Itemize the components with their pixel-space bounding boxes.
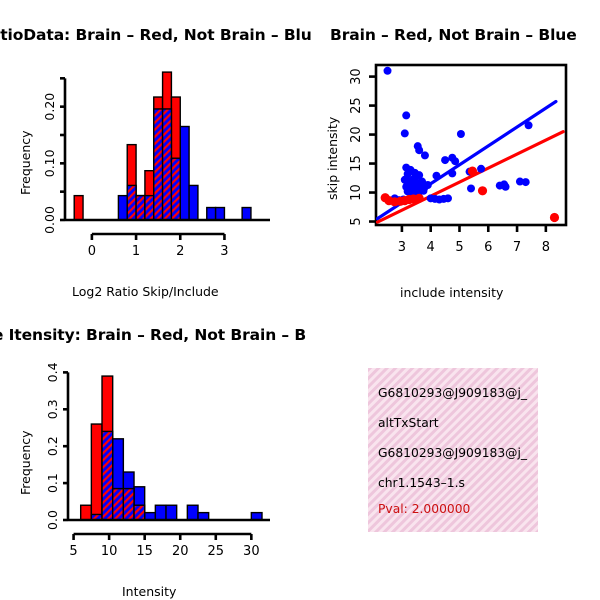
histogram-bar-brain [91, 424, 102, 520]
intensity-scatter-plot: 51015202530345678 [316, 55, 596, 280]
x-tick-label: 3 [220, 244, 228, 259]
bottom-left-panel-title: ne Itensity: Brain – Red, Not Brain – B [0, 326, 306, 344]
histogram-bar-not-brain [180, 127, 189, 221]
x-tick-label: 20 [172, 544, 189, 559]
y-tick-label: 0.10 [42, 149, 57, 177]
x-tick-label: 1 [132, 244, 140, 259]
scatter-point-not-brain [477, 165, 485, 173]
y-tick-label: 0.0 [45, 510, 60, 530]
scatter-point-not-brain [402, 111, 410, 119]
ratio-histogram-plot: 0.000.100.200123 [30, 55, 295, 280]
histogram-bar-overlap [134, 505, 145, 520]
histogram-bar-overlap [154, 109, 163, 220]
histogram-bar-overlap [127, 185, 136, 220]
histogram-bar-overlap [113, 489, 124, 520]
scatter-point-brain [415, 194, 424, 203]
top-left-panel-title: RatioData: Brain – Red, Not Brain – Blu [0, 26, 312, 44]
y-tick-label: 0.3 [45, 399, 60, 419]
y-tick-label: 15 [349, 155, 364, 172]
info-line-event-type: altTxStart [378, 416, 439, 430]
x-tick-label: 5 [69, 544, 77, 559]
x-tick-label: 30 [243, 544, 260, 559]
scatter-point-not-brain [451, 157, 459, 165]
histogram-bar-not-brain [189, 185, 198, 220]
histogram-bar-not-brain [155, 505, 166, 520]
x-tick-label: 7 [513, 240, 521, 255]
histogram-bar-overlap [102, 431, 113, 520]
histogram-bar-not-brain [216, 208, 225, 220]
scatter-point-not-brain [522, 178, 530, 186]
histogram-bar-overlap [123, 489, 134, 520]
x-tick-label: 3 [398, 240, 406, 255]
scatter-point-brain [468, 166, 477, 175]
x-tick-label: 5 [455, 240, 463, 255]
y-tick-label: 10 [349, 184, 364, 201]
annotation-info-box: G6810293@J909183@j_ altTxStart G6810293@… [368, 368, 538, 532]
figure-canvas: RatioData: Brain – Red, Not Brain – Blu … [0, 0, 600, 600]
x-tick-label: 6 [484, 240, 492, 255]
histogram-bar-overlap [163, 109, 172, 220]
scatter-point-not-brain [444, 194, 452, 202]
y-tick-label: 5 [349, 217, 364, 225]
histogram-bar-not-brain [207, 208, 216, 220]
y-tick-label: 0.20 [42, 93, 57, 121]
y-tick-label: 25 [349, 97, 364, 114]
y-tick-label: 0.2 [45, 436, 60, 456]
y-tick-label: 0.4 [45, 362, 60, 382]
x-tick-label: 10 [101, 544, 118, 559]
scatter-point-brain [550, 213, 559, 222]
top-left-x-axis-label: Log2 Ratio Skip/Include [72, 284, 219, 299]
info-line-gene-id-1: G6810293@J909183@j_ [378, 386, 527, 400]
intensity-histogram-plot: 0.00.10.20.30.451015202530 [30, 355, 295, 580]
scatter-point-not-brain [502, 183, 510, 191]
x-tick-label: 4 [427, 240, 435, 255]
scatter-point-not-brain [525, 121, 533, 129]
x-tick-label: 2 [176, 244, 184, 259]
scatter-point-not-brain [448, 169, 456, 177]
y-tick-label: 30 [349, 68, 364, 85]
x-tick-label: 8 [542, 240, 550, 255]
scatter-point-not-brain [441, 156, 449, 164]
scatter-point-not-brain [435, 195, 443, 203]
histogram-bar-brain [81, 505, 92, 520]
x-tick-label: 0 [88, 244, 96, 259]
top-right-panel-title: Brain – Red, Not Brain – Blue [330, 26, 577, 44]
info-line-gene-id-2: G6810293@J909183@j_ [378, 446, 527, 460]
y-tick-label: 0.00 [42, 206, 57, 234]
scatter-point-not-brain [457, 130, 465, 138]
histogram-bar-overlap [136, 196, 145, 220]
top-right-x-axis-label: include intensity [400, 285, 503, 300]
info-line-pval: Pval: 2.000000 [378, 502, 470, 516]
scatter-point-not-brain [467, 184, 475, 192]
info-line-locus: chr1.1543–1.s [378, 476, 465, 490]
histogram-bar-not-brain [187, 505, 198, 520]
scatter-point-not-brain [420, 187, 428, 195]
histogram-bar-not-brain [242, 208, 251, 220]
histogram-bar-not-brain [166, 505, 177, 520]
histogram-bar-overlap [171, 158, 180, 220]
scatter-point-not-brain [432, 172, 440, 180]
scatter-point-not-brain [384, 67, 392, 75]
scatter-point-not-brain [421, 151, 429, 159]
histogram-bar-brain [74, 196, 83, 220]
x-tick-label: 15 [136, 544, 153, 559]
histogram-bar-not-brain [118, 196, 127, 220]
histogram-bar-overlap [145, 196, 154, 220]
bottom-left-x-axis-label: Intensity [122, 584, 176, 599]
y-tick-label: 20 [349, 126, 364, 143]
scatter-point-not-brain [401, 129, 409, 137]
x-tick-label: 25 [208, 544, 225, 559]
scatter-point-brain [478, 186, 487, 195]
y-tick-label: 0.1 [45, 473, 60, 493]
